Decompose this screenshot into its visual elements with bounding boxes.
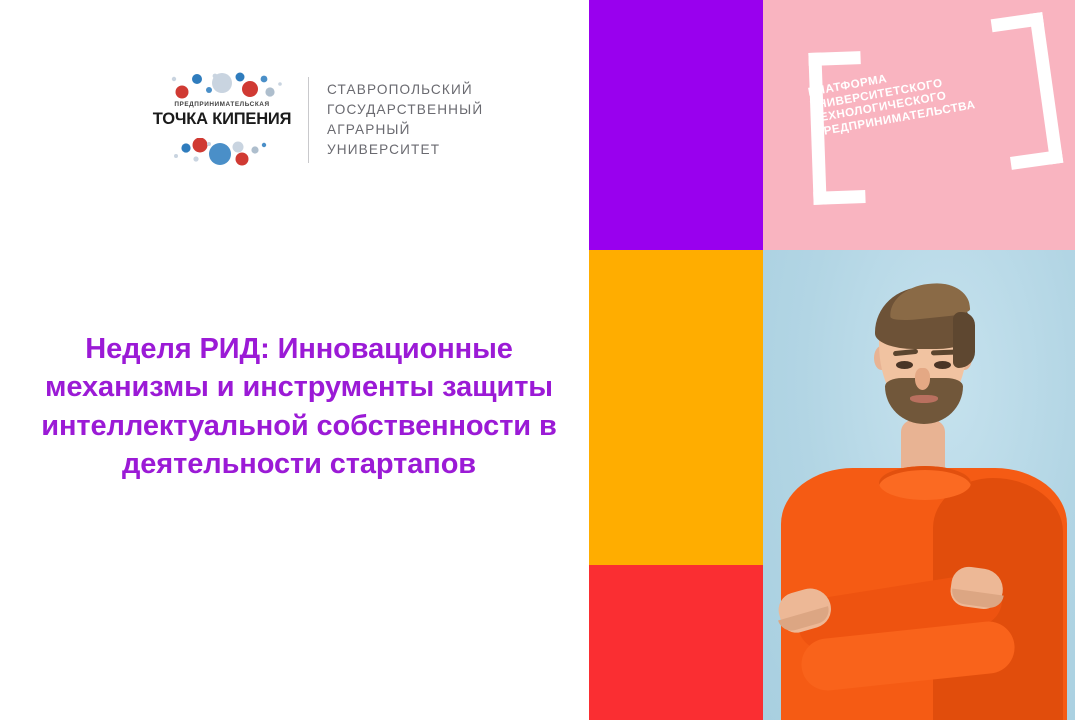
bubbles-bottom-icon	[152, 138, 292, 170]
color-block-orange	[589, 250, 763, 565]
hero-photo	[763, 250, 1075, 720]
bubbles-logo-icon: ПРЕДПРИНИМАТЕЛЬСКАЯ ТОЧКА КИПЕНИЯ	[152, 68, 292, 172]
logo-lockup: ПРЕДПРИНИМАТЕЛЬСКАЯ ТОЧКА КИПЕНИЯ СТАВРО…	[152, 68, 483, 172]
bubbles-top-icon	[152, 70, 292, 102]
university-name: СТАВРОПОЛЬСКИЙ ГОСУДАРСТВЕННЫЙ АГРАРНЫЙ …	[327, 80, 483, 160]
eye-left	[896, 361, 913, 369]
logo-big-line: ТОЧКА КИПЕНИЯ	[152, 110, 292, 128]
logo-small-line: ПРЕДПРИНИМАТЕЛЬСКАЯ	[152, 102, 292, 108]
sweater-collar	[879, 466, 971, 500]
close-bracket-icon	[991, 12, 1064, 170]
page-title: Неделя РИД: Инновационные механизмы и ин…	[18, 330, 580, 483]
vertical-divider-icon	[308, 77, 309, 163]
logo-wordmark: ПРЕДПРИНИМАТЕЛЬСКАЯ ТОЧКА КИПЕНИЯ	[152, 102, 292, 129]
person-figure	[763, 250, 1075, 720]
mouth	[910, 395, 938, 403]
nose	[915, 368, 930, 390]
hair-side	[953, 312, 975, 368]
eye-right	[934, 361, 951, 369]
presentation-slide: ПРЕДПРИНИМАТЕЛЬСКАЯ ТОЧКА КИПЕНИЯ СТАВРО…	[0, 0, 1075, 720]
color-block-red	[589, 565, 763, 720]
platform-branding-panel: ПЛАТФОРМА УНИВЕРСИТЕТСКОГО ТЕХНОЛОГИЧЕСК…	[763, 0, 1075, 250]
color-block-purple	[589, 0, 763, 250]
